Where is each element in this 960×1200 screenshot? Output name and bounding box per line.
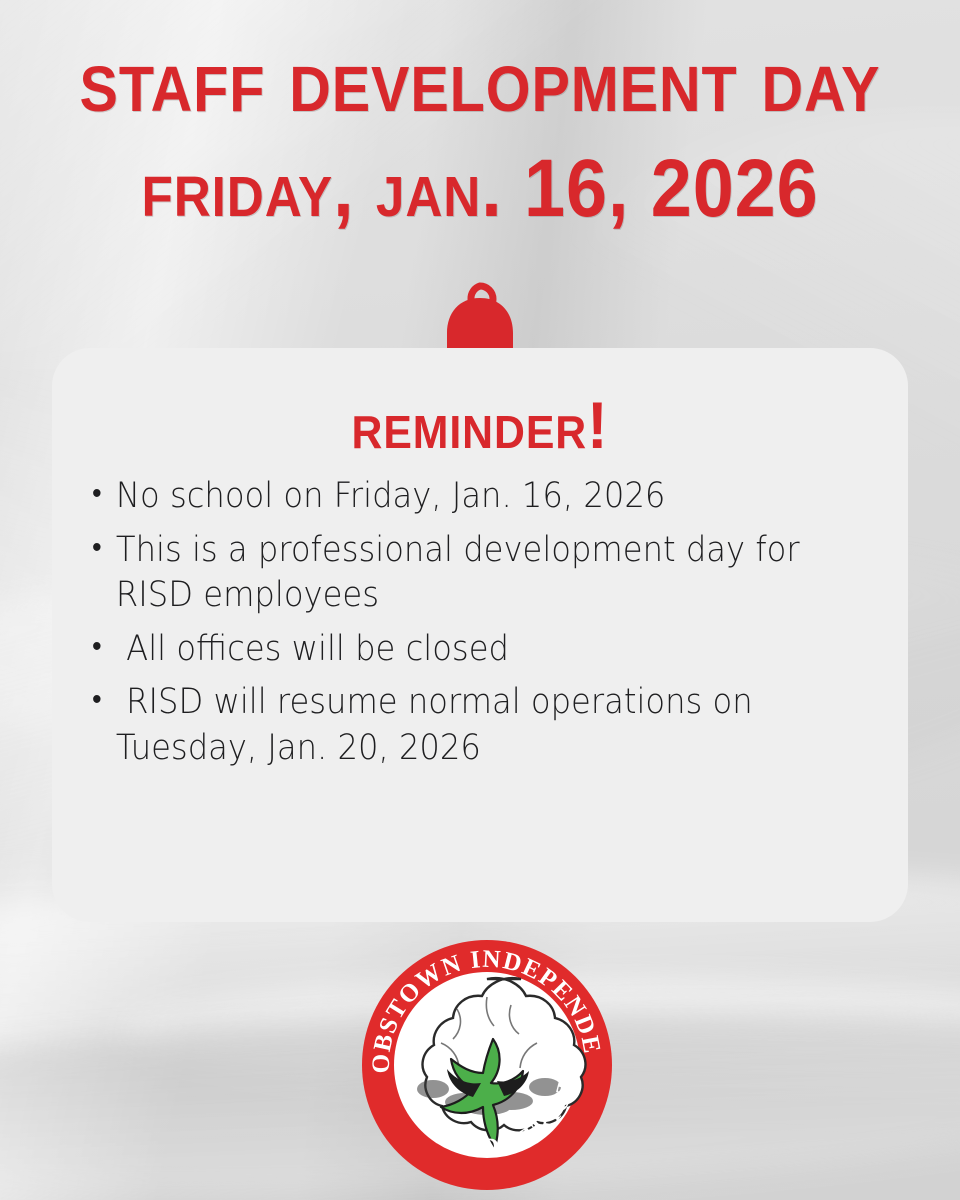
district-logo: ROBSTOWN INDEPENDENT SCHOOL DISTRICT xyxy=(361,939,613,1191)
bullet-marker: • xyxy=(92,474,116,513)
reminder-bullet-list: • No school on Friday, Jan. 16, 2026 • T… xyxy=(92,474,868,771)
poster-title: Staff Development Day xyxy=(48,34,912,126)
list-item-text: All offices will be closed xyxy=(116,627,806,673)
bullet-marker: • xyxy=(92,528,116,567)
list-item: • All offices will be closed xyxy=(92,627,806,673)
headline-block: Staff Development Day Friday, Jan. 16, 2… xyxy=(0,34,960,230)
list-item-text: No school on Friday, Jan. 16, 2026 xyxy=(116,474,806,520)
poster-subtitle: Friday, Jan. 16, 2026 xyxy=(48,148,912,230)
list-item: • RISD will resume normal operations on … xyxy=(92,680,806,771)
list-item-text: RISD will resume normal operations on Tu… xyxy=(116,680,806,771)
list-item: • No school on Friday, Jan. 16, 2026 xyxy=(92,474,806,520)
bullet-marker: • xyxy=(92,680,116,719)
bullet-marker: • xyxy=(92,627,116,666)
poster-canvas: Staff Development Day Friday, Jan. 16, 2… xyxy=(0,0,960,1200)
list-item-text: This is a professional development day f… xyxy=(116,528,806,619)
reminder-card: Reminder! • No school on Friday, Jan. 16… xyxy=(52,348,908,922)
list-item: • This is a professional development day… xyxy=(92,528,806,619)
card-heading: Reminder! xyxy=(82,392,878,458)
